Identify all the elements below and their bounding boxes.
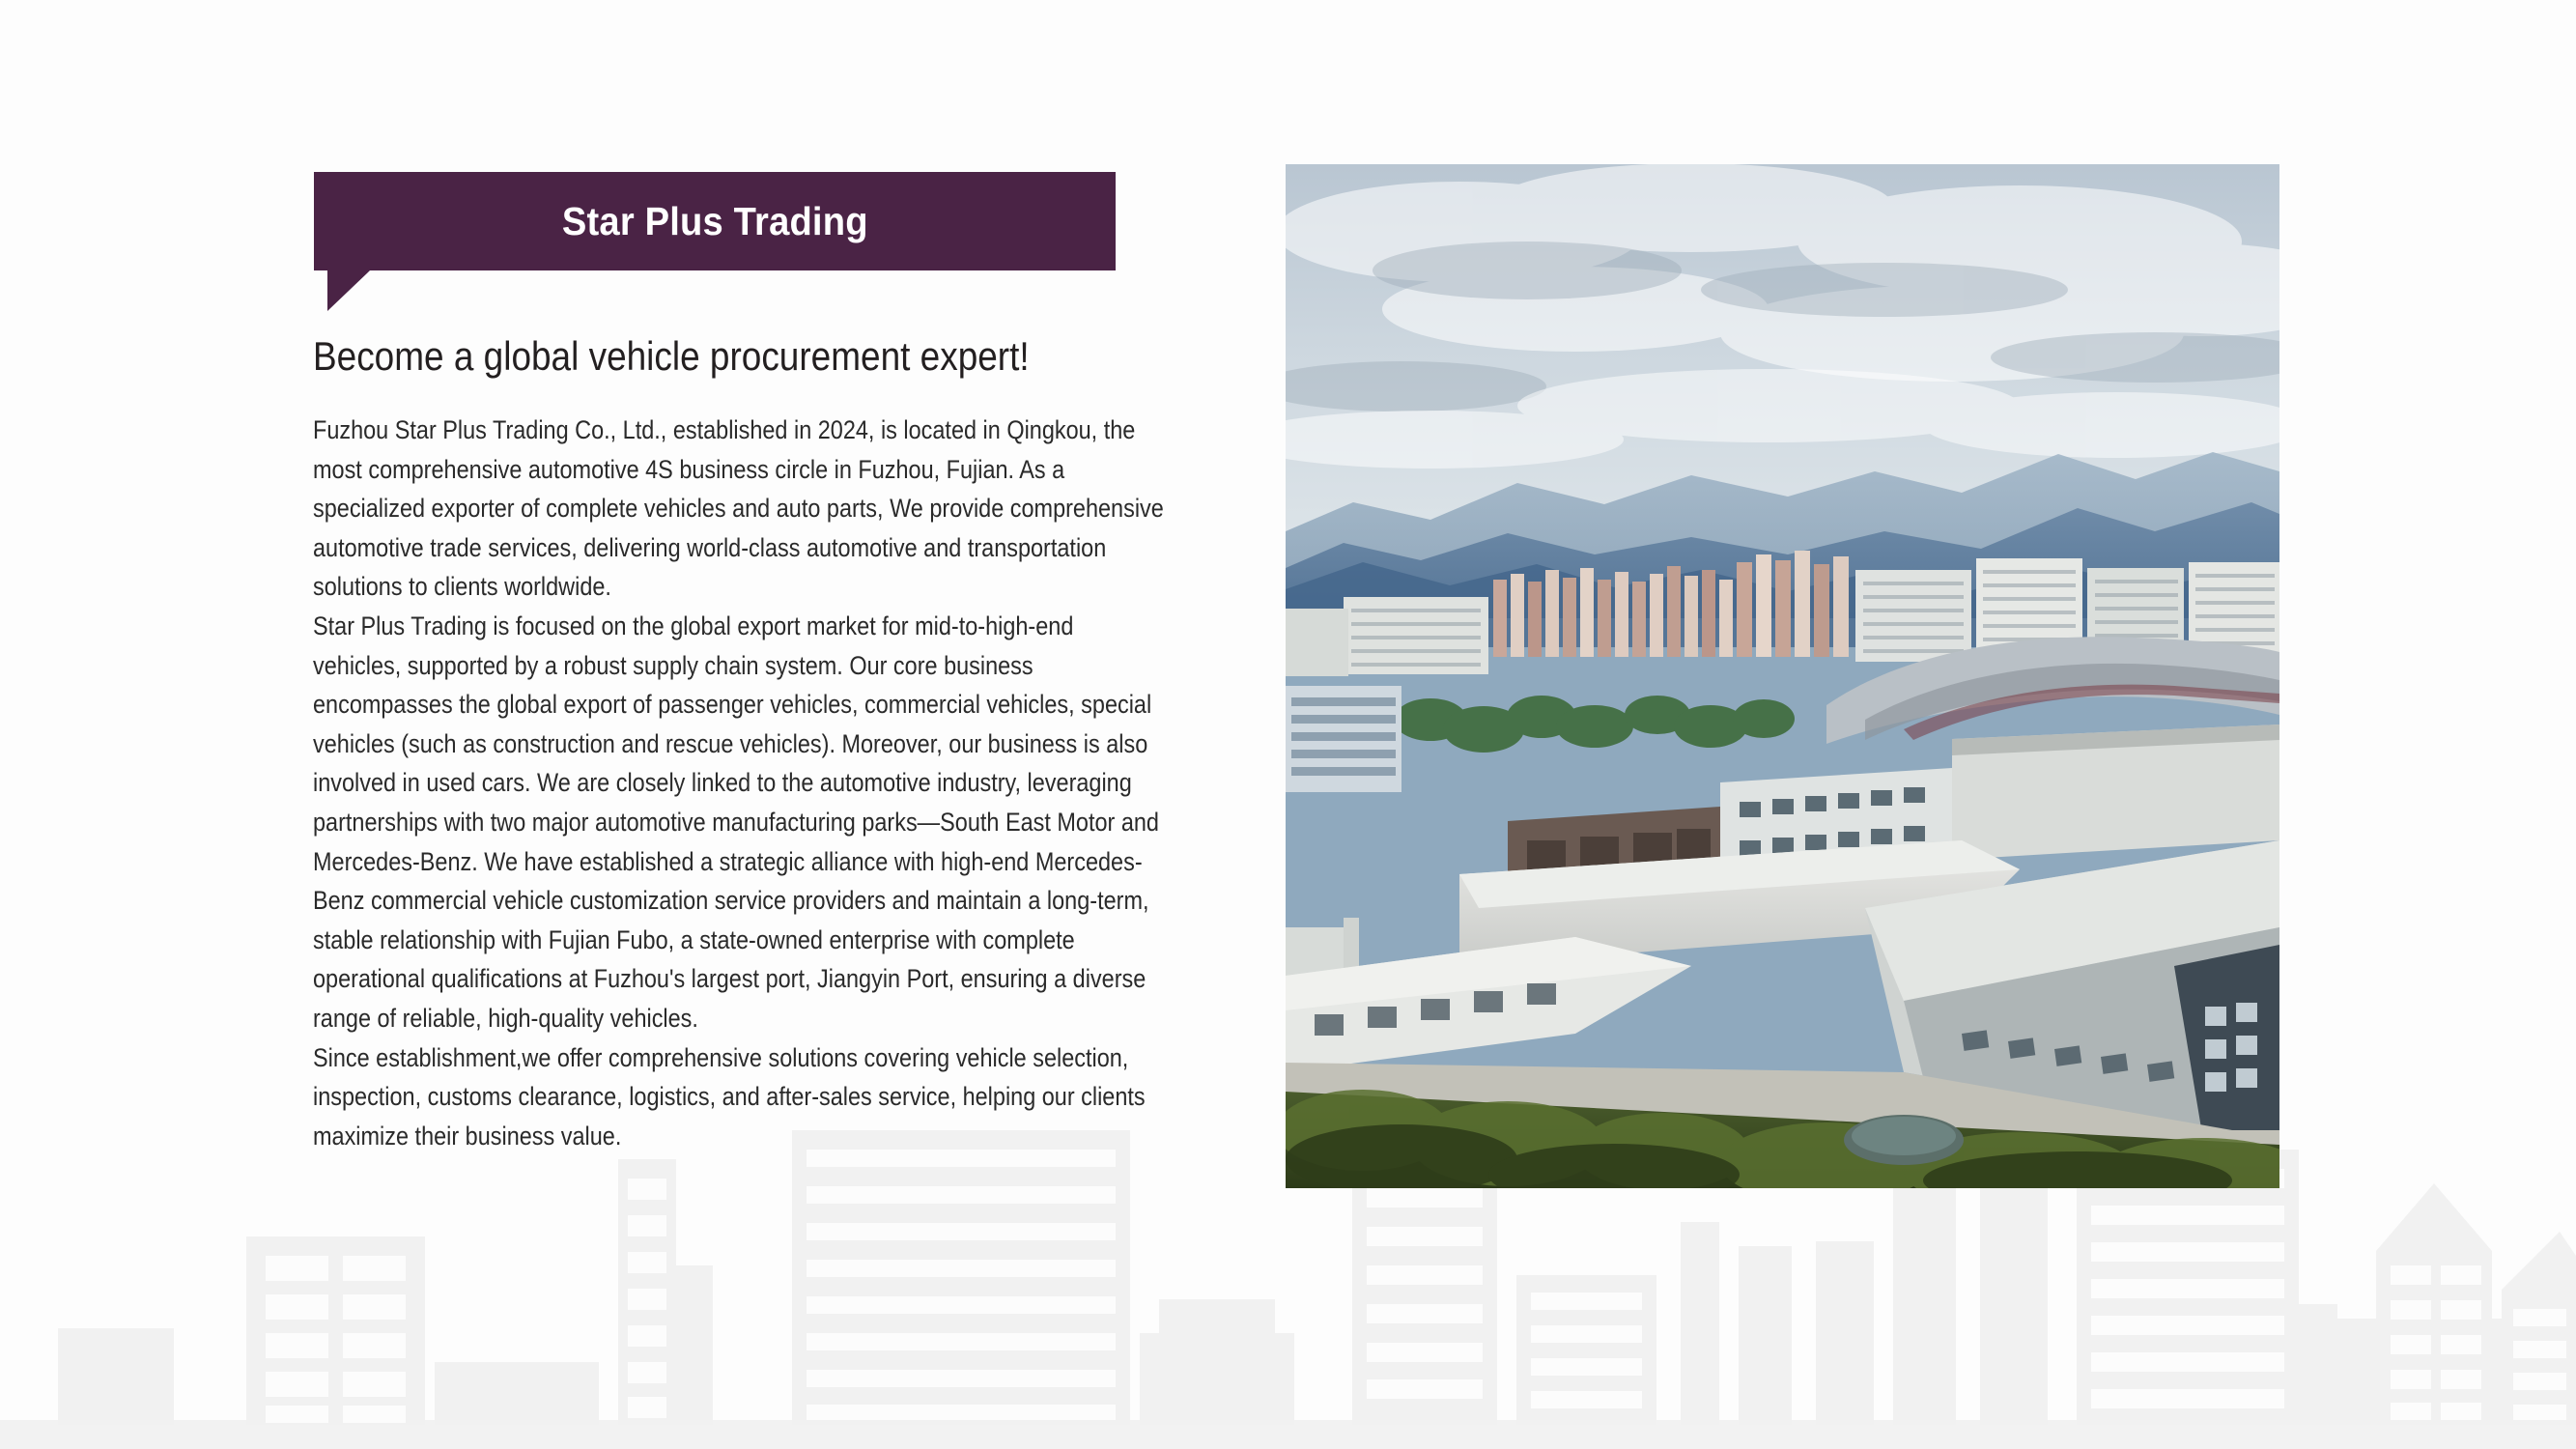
page-title: Star Plus Trading bbox=[562, 199, 868, 244]
body-copy: Fuzhou Star Plus Trading Co., Ltd., esta… bbox=[313, 411, 1168, 1155]
banner-tail-triangle bbox=[314, 270, 372, 311]
title-banner: Star Plus Trading bbox=[314, 172, 1116, 270]
paragraph-1: Fuzhou Star Plus Trading Co., Ltd., esta… bbox=[313, 411, 1168, 607]
paragraph-2: Star Plus Trading is focused on the glob… bbox=[313, 607, 1168, 1038]
paragraph-3: Since establishment,we offer comprehensi… bbox=[313, 1038, 1168, 1156]
facility-photo bbox=[1286, 164, 2279, 1188]
slide-root: Star Plus Trading Become a global vehicl… bbox=[0, 0, 2576, 1449]
headline: Become a global vehicle procurement expe… bbox=[313, 333, 1078, 380]
